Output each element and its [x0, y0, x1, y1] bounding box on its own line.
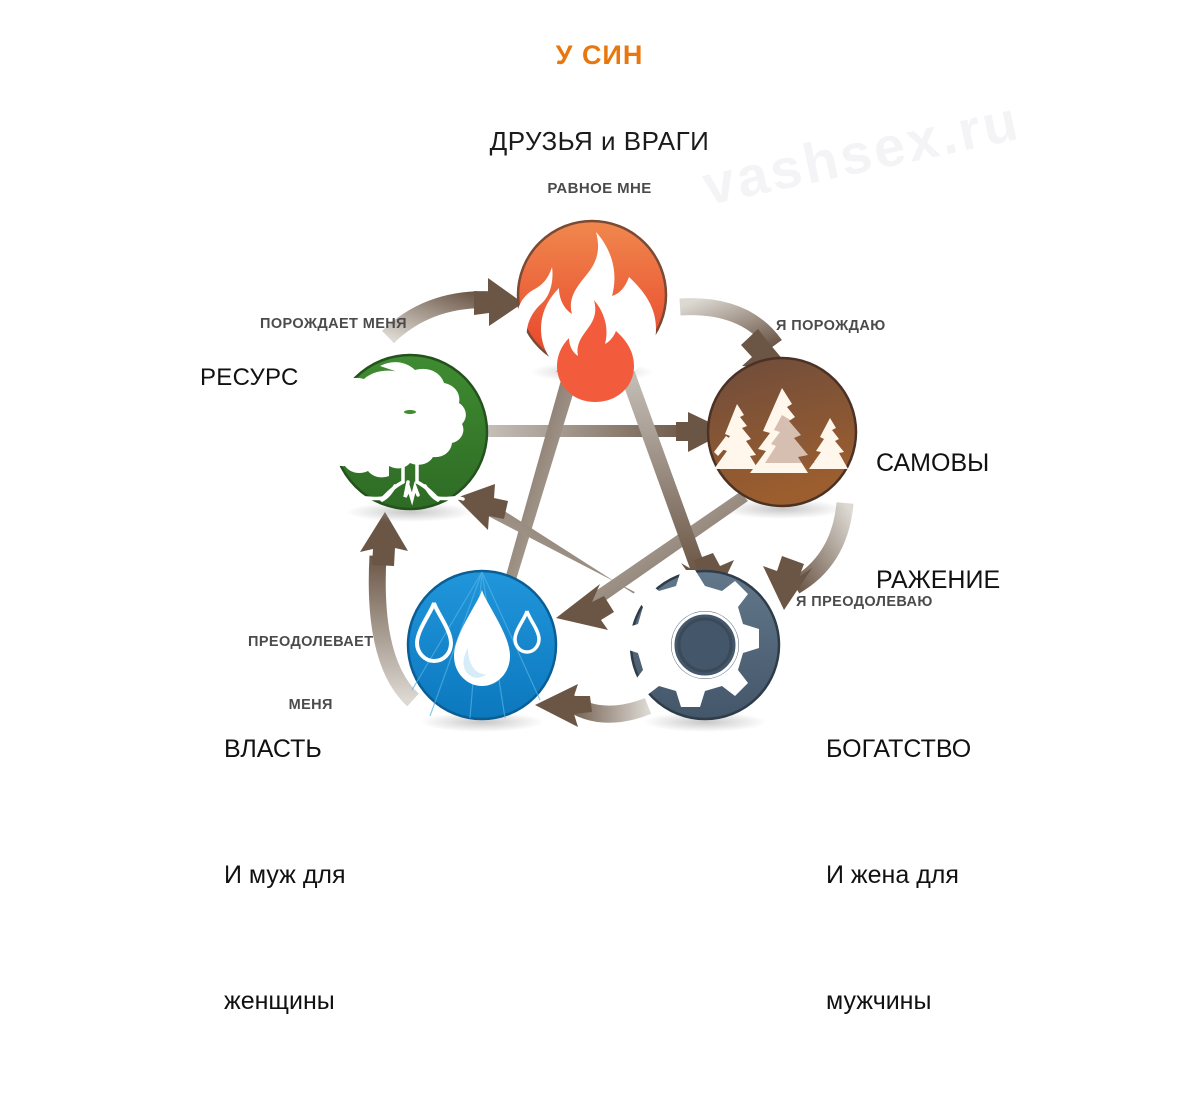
wood-heading: РЕСУРС — [200, 364, 299, 392]
node-water[interactable] — [408, 571, 556, 719]
earth-heading-line1: САМОВЫ — [876, 444, 1000, 483]
earth-relation-label: Я ПОРОЖДАЮ — [776, 318, 886, 334]
water-heading-line1: ВЛАСТЬ — [224, 728, 346, 770]
metal-heading-line3: мужчины — [826, 980, 971, 1022]
water-heading-line3: женщины — [224, 980, 346, 1022]
metal-relation-label: Я ПРЕОДОЛЕВАЮ — [796, 594, 933, 610]
node-earth[interactable] — [708, 358, 856, 506]
wood-relation-label: ПОРОЖДАЕТ МЕНЯ — [260, 316, 407, 332]
fire-relation-label: РАВНОЕ МНЕ — [0, 180, 1199, 197]
node-metal[interactable] — [622, 570, 779, 719]
water-heading-line2: И муж для — [224, 854, 346, 896]
metal-heading-line2: И жена для — [826, 854, 971, 896]
node-wood[interactable] — [313, 355, 487, 509]
nodes-layer — [0, 0, 1199, 810]
fire-heading: ДРУЗЬЯ и ВРАГИ — [0, 126, 1199, 157]
earth-heading: САМОВЫ РАЖЕНИЕ — [876, 366, 1000, 678]
page-title: У СИН — [0, 40, 1199, 71]
metal-heading: БОГАТСТВО И жена для мужчины — [826, 644, 971, 1106]
diagram-canvas: vashsex.ru — [0, 0, 1199, 810]
metal-heading-line1: БОГАТСТВО — [826, 728, 971, 770]
water-heading: ВЛАСТЬ И муж для женщины — [224, 644, 346, 1106]
